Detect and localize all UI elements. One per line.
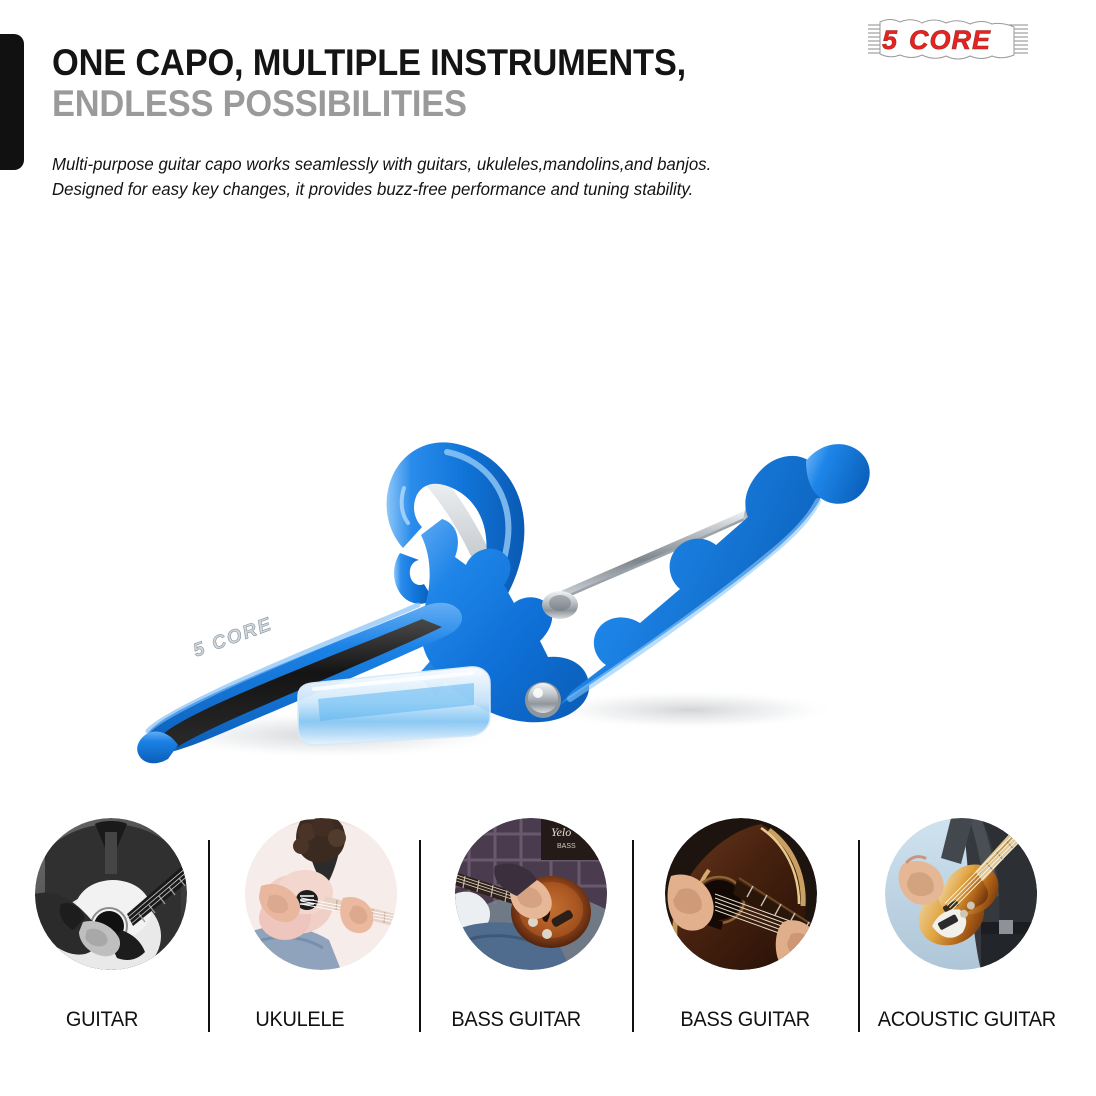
divider-3 [632, 840, 634, 1032]
description-line2: Designed for easy key changes, it provid… [52, 177, 916, 202]
description-line1: Multi-purpose guitar capo works seamless… [52, 152, 916, 177]
divider-1 [208, 840, 210, 1032]
engraved-brand: 5 CORE [191, 614, 276, 662]
description: Multi-purpose guitar capo works seamless… [52, 152, 916, 202]
headline-block: ONE CAPO, MULTIPLE INSTRUMENTS, ENDLESS … [52, 44, 852, 125]
thumb-bass-guitar[interactable]: Yelo BASS [455, 818, 607, 970]
product-hero-image: 5 CORE [0, 205, 1096, 800]
svg-text:BASS: BASS [557, 843, 576, 850]
label-bass-guitar: BASS GUITAR [451, 1008, 581, 1032]
divider-2 [419, 840, 421, 1032]
capo-hook-tip [394, 553, 433, 604]
label-acoustic-guitar: ACOUSTIC GUITAR [878, 1008, 1056, 1032]
brand-logo: 5 CORE [868, 16, 1028, 60]
page-title-line2: ENDLESS POSSIBILITIES [52, 84, 796, 125]
product-infographic: ONE CAPO, MULTIPLE INSTRUMENTS, ENDLESS … [0, 0, 1096, 1096]
pivot-rivet-highlight [533, 688, 543, 698]
thumb-bass-guitar-2[interactable] [665, 818, 817, 970]
spring-collar-inner [549, 595, 571, 611]
label-guitar: GUITAR [66, 1008, 138, 1032]
divider-4 [858, 840, 860, 1032]
thumb-acoustic-guitar[interactable] [885, 818, 1037, 970]
engraved-brand-text: 5 CORE [191, 614, 276, 662]
page-title-line1: ONE CAPO, MULTIPLE INSTRUMENTS, [52, 44, 796, 82]
logo-text-core: CORE [909, 25, 991, 55]
label-ukulele: UKULELE [255, 1008, 344, 1032]
logo-text-5: 5 [882, 25, 898, 55]
svg-text:Yelo: Yelo [551, 825, 571, 839]
pivot-rivet [528, 683, 558, 713]
accent-bar [0, 34, 24, 170]
label-bass-guitar-2: BASS GUITAR [680, 1008, 810, 1032]
thumb-guitar[interactable] [35, 818, 187, 970]
thumb-ukulele[interactable] [245, 818, 397, 970]
